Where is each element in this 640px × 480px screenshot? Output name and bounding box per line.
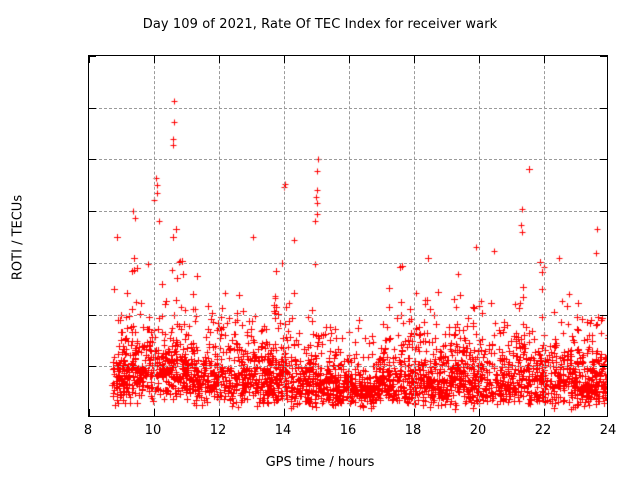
x-axis-tick-label: 18 [383,423,443,438]
x-axis-tick-label: 20 [448,423,508,438]
y-axis-tick [89,211,96,212]
x-axis-tick-label: 14 [253,423,313,438]
x-axis-tick [544,56,545,63]
x-axis-tick [89,56,90,63]
x-axis-tick [154,409,155,416]
x-axis-label: GPS time / hours [0,455,640,470]
y-axis-tick [89,315,96,316]
x-axis-tick-label: 8 [58,423,118,438]
page-title: Day 109 of 2021, Rate Of TEC Index for r… [0,17,640,32]
x-axis-tick [414,409,415,416]
x-axis-tick [349,409,350,416]
y-axis-tick [89,159,96,160]
x-axis-tick-label: 24 [578,423,638,438]
y-axis-tick [89,263,96,264]
y-axis-tick [89,108,96,109]
y-axis-tick [89,56,96,57]
x-axis-tick [284,409,285,416]
y-axis-tick [600,159,607,160]
x-axis-tick [544,409,545,416]
y-axis-label: ROTI / TECUs [11,158,26,318]
roti-scatter-chart: Day 109 of 2021, Rate Of TEC Index for r… [0,0,640,480]
x-axis-tick [219,56,220,63]
x-axis-tick [414,56,415,63]
scatter-plot-canvas [89,56,608,417]
x-axis-tick [89,409,90,416]
x-axis-tick [154,56,155,63]
x-axis-tick [219,409,220,416]
y-axis-tick [89,366,96,367]
y-axis-tick [600,108,607,109]
x-axis-tick-label: 22 [513,423,573,438]
plot-area [88,55,608,417]
x-axis-tick [284,56,285,63]
y-axis-tick [600,211,607,212]
x-axis-tick [479,56,480,63]
y-axis-tick [600,56,607,57]
x-axis-tick [479,409,480,416]
y-axis-tick [600,263,607,264]
x-axis-tick [349,56,350,63]
x-axis-tick-label: 10 [123,423,183,438]
y-axis-tick [600,366,607,367]
x-axis-tick-label: 16 [318,423,378,438]
y-axis-tick [600,315,607,316]
x-axis-tick-label: 12 [188,423,248,438]
